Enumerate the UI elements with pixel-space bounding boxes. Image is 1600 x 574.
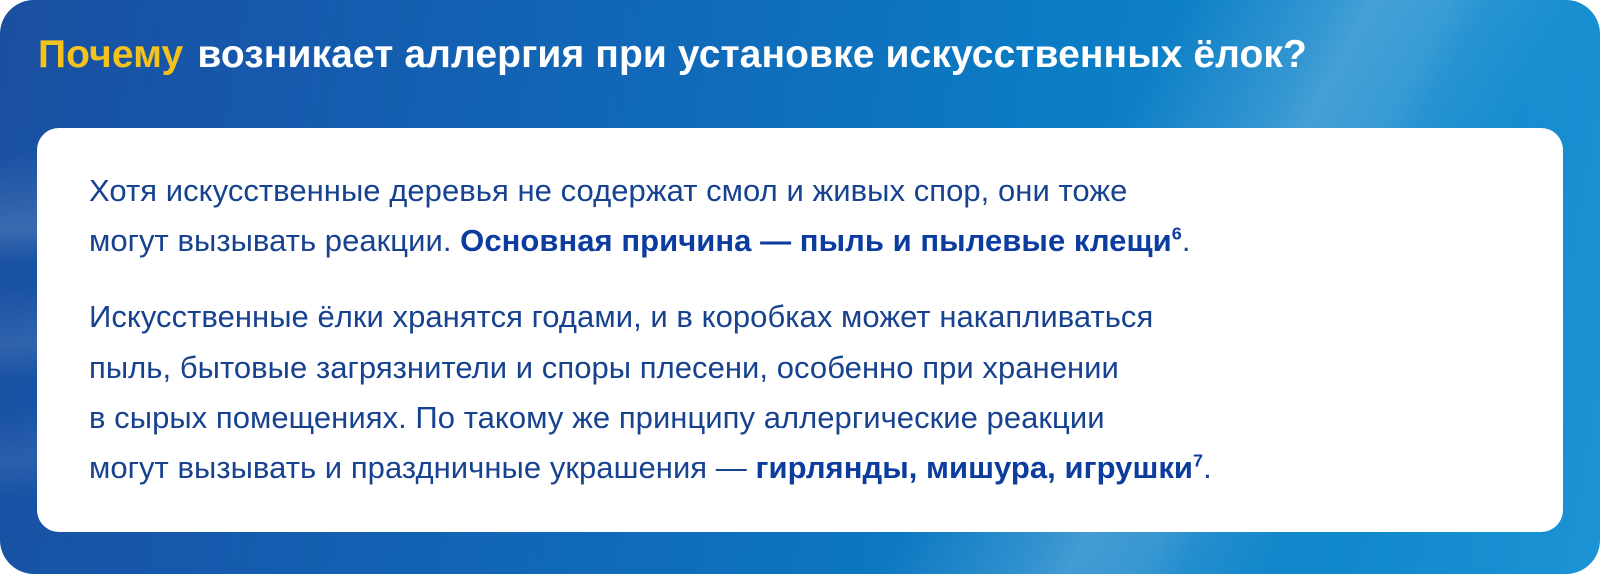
headline-accent-word: Почему bbox=[38, 33, 183, 76]
paragraph-two-line-4-tail: . bbox=[1203, 450, 1212, 485]
allergy-info-banner: Почемувозникает аллергия при установке и… bbox=[0, 0, 1600, 574]
paragraph-one-emphasis: Основная причина — пыль и пылевые клещи bbox=[460, 223, 1172, 258]
paragraph-one-line-2-plain: могут вызывать реакции. bbox=[89, 223, 460, 258]
headline-rest: возникает аллергия при установке искусст… bbox=[197, 33, 1307, 76]
paragraph-one-line-2-tail: . bbox=[1182, 223, 1191, 258]
paragraph-two-line-2: пыль, бытовые загрязнители и споры плесе… bbox=[89, 350, 1119, 385]
paragraph-two-line-4-plain: могут вызывать и праздничные украшения — bbox=[89, 450, 756, 485]
paragraph-two-line-1: Искусственные ёлки хранятся годами, и в … bbox=[89, 299, 1153, 334]
footnote-marker-7: 7 bbox=[1193, 451, 1203, 471]
content-card: Хотя искусственные деревья не содержат с… bbox=[37, 128, 1563, 532]
paragraph-one: Хотя искусственные деревья не содержат с… bbox=[89, 166, 1511, 266]
banner-headline: Почемувозникает аллергия при установке и… bbox=[38, 34, 1560, 77]
paragraph-two: Искусственные ёлки хранятся годами, и в … bbox=[89, 292, 1511, 493]
footnote-marker-6: 6 bbox=[1172, 224, 1182, 244]
paragraph-one-line-1: Хотя искусственные деревья не содержат с… bbox=[89, 173, 1127, 208]
paragraph-two-emphasis: гирлянды, мишура, игрушки bbox=[756, 450, 1193, 485]
paragraph-two-line-3: в сырых помещениях. По такому же принцип… bbox=[89, 400, 1105, 435]
